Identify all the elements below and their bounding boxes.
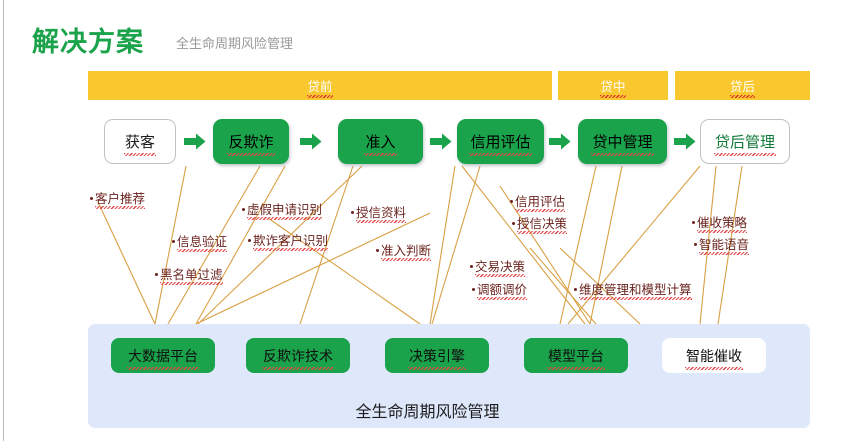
arrow-right-icon: [184, 133, 206, 150]
connector-line: [590, 166, 622, 324]
slide-canvas: 解决方案 全生命周期风险管理 贷前贷中贷后 获客反欺诈准入信用评估贷中管理贷后管…: [0, 0, 855, 441]
flow-step-5[interactable]: 贷后管理: [700, 119, 790, 164]
annotation-note-label: 客户推荐: [95, 192, 145, 206]
flow-step-1[interactable]: 反欺诈: [213, 119, 289, 164]
annotation-note-13: 维度管理和模型计算: [574, 279, 692, 298]
annotation-note-3: 信用评估: [510, 191, 565, 210]
bullet-dot-icon: [90, 197, 93, 200]
annotation-note-5: 欺诈客户识别: [248, 230, 328, 249]
annotation-note-label: 授信资料: [356, 206, 406, 220]
phase-banner-2[interactable]: 贷后: [675, 71, 810, 100]
bullet-dot-icon: [351, 211, 354, 214]
bullet-dot-icon: [510, 200, 513, 203]
platform-box-label: 反欺诈技术: [263, 346, 333, 366]
bullet-dot-icon: [155, 273, 158, 276]
bullet-dot-icon: [376, 249, 379, 252]
flow-step-4[interactable]: 贷中管理: [578, 119, 667, 164]
page-subtitle: 全生命周期风险管理: [176, 33, 293, 52]
arrow-right-icon: [674, 133, 696, 150]
annotation-note-label: 准入判断: [381, 244, 431, 258]
bullet-dot-icon: [692, 221, 695, 224]
connector-line: [98, 202, 155, 324]
phase-banner-label: 贷中: [600, 76, 625, 95]
bullet-dot-icon: [470, 265, 473, 268]
bullet-dot-icon: [472, 288, 475, 291]
annotation-note-label: 信用评估: [515, 195, 565, 209]
bullet-dot-icon: [574, 288, 577, 291]
phase-banner-1[interactable]: 贷中: [558, 71, 668, 100]
annotation-note-2: 授信资料: [351, 202, 406, 221]
phase-banner-label: 贷后: [730, 76, 755, 95]
annotation-note-6: 授信决策: [512, 213, 567, 232]
arrow-right-icon: [430, 133, 452, 150]
connector-line: [462, 166, 585, 324]
annotation-note-label: 授信决策: [517, 217, 567, 231]
annotation-note-label: 黑名单过滤: [160, 268, 223, 282]
arrow-right-icon: [549, 133, 571, 150]
left-edge-rule: [3, 0, 4, 441]
annotation-note-0: 客户推荐: [90, 188, 145, 207]
page-title: 解决方案: [32, 20, 144, 59]
bullet-dot-icon: [512, 222, 515, 225]
flow-step-label: 获客: [125, 131, 155, 152]
bullet-dot-icon: [248, 239, 251, 242]
annotation-note-8: 信息验证: [172, 231, 227, 250]
annotation-note-label: 虚假申请识别: [247, 203, 322, 217]
annotation-note-label: 信息验证: [177, 235, 227, 249]
connector-line: [560, 166, 596, 324]
platform-box-label: 模型平台: [548, 346, 604, 366]
annotation-note-4: 催收策略: [692, 212, 747, 231]
flow-step-2[interactable]: 准入: [338, 119, 423, 164]
flow-step-label: 反欺诈: [228, 131, 273, 152]
platform-box-3[interactable]: 模型平台: [524, 338, 628, 373]
platform-box-1[interactable]: 反欺诈技术: [246, 338, 350, 373]
platform-box-2[interactable]: 决策引擎: [385, 338, 489, 373]
connector-line: [568, 166, 700, 324]
bullet-dot-icon: [242, 208, 245, 211]
annotation-note-label: 调额调价: [477, 283, 527, 297]
annotation-note-1: 虚假申请识别: [242, 199, 322, 218]
annotation-note-12: 调额调价: [472, 279, 527, 298]
flow-step-3[interactable]: 信用评估: [457, 119, 544, 164]
bullet-dot-icon: [172, 240, 175, 243]
arrow-right-icon: [300, 133, 322, 150]
platform-box-4[interactable]: 智能催收: [662, 338, 766, 373]
bullet-dot-icon: [694, 243, 697, 246]
phase-banner-label: 贷前: [307, 76, 332, 95]
connector-line: [432, 166, 480, 324]
annotation-note-label: 维度管理和模型计算: [579, 283, 692, 297]
annotation-note-11: 黑名单过滤: [155, 264, 223, 283]
platform-box-0[interactable]: 大数据平台: [111, 338, 215, 373]
flow-step-label: 准入: [365, 131, 395, 152]
annotation-note-9: 准入判断: [376, 240, 431, 259]
annotation-note-10: 交易决策: [470, 256, 525, 275]
annotation-note-label: 欺诈客户识别: [253, 234, 328, 248]
flow-step-0[interactable]: 获客: [104, 119, 176, 164]
platform-box-label: 决策引擎: [409, 346, 465, 366]
flow-step-label: 贷后管理: [715, 131, 775, 152]
platform-box-label: 智能催收: [686, 346, 742, 366]
platform-box-label: 大数据平台: [128, 346, 198, 366]
annotation-note-label: 智能语音: [699, 238, 749, 252]
annotation-note-label: 交易决策: [475, 260, 525, 274]
annotation-note-7: 智能语音: [694, 234, 749, 253]
phase-banner-0[interactable]: 贷前: [88, 71, 552, 100]
flow-step-label: 信用评估: [470, 131, 530, 152]
connector-line: [430, 166, 455, 324]
flow-step-label: 贷中管理: [592, 131, 652, 152]
annotation-note-label: 催收策略: [697, 216, 747, 230]
platform-caption: 全生命周期风险管理: [0, 398, 855, 422]
